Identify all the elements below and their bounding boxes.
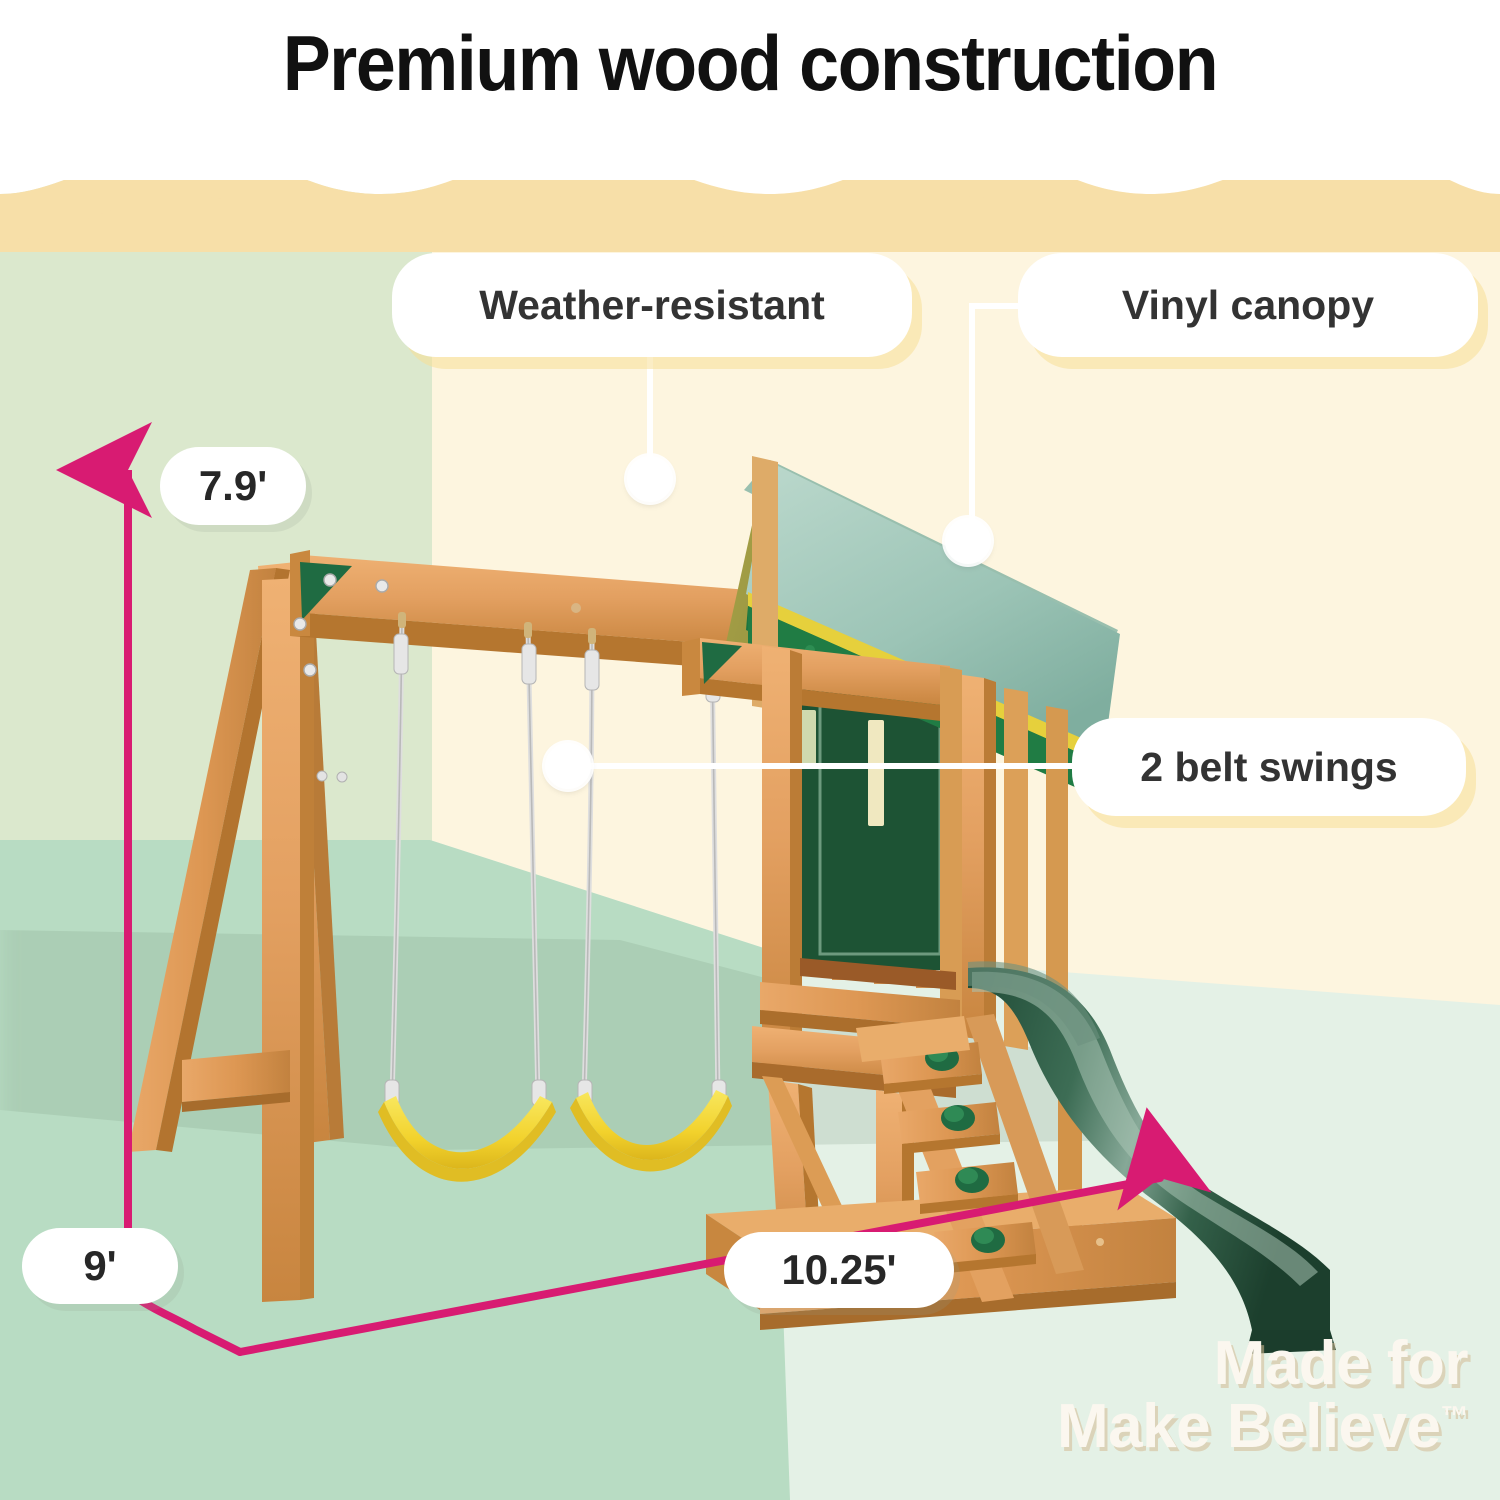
- dimension-label-height: 7.9': [160, 447, 306, 525]
- callout-label-vinyl[interactable]: Vinyl canopy: [1018, 253, 1478, 357]
- dimension-label-depth: 9': [22, 1228, 178, 1304]
- brand-lockup: Made for Make Believe™: [1057, 1332, 1468, 1458]
- callout-marker-swings[interactable]: [545, 743, 591, 789]
- marker-ring-icon: [556, 754, 580, 778]
- infographic-canvas: Premium wood construction Weather-resist…: [0, 0, 1500, 1500]
- page-title: Premium wood construction: [60, 18, 1440, 109]
- marker-ring-icon: [638, 467, 662, 491]
- marker-ring-icon: [956, 529, 980, 553]
- callout-label-weather[interactable]: Weather-resistant: [392, 253, 912, 357]
- dimension-label-width: 10.25': [724, 1232, 954, 1308]
- callout-marker-vinyl[interactable]: [945, 518, 991, 564]
- brand-line-2: Make Believe: [1057, 1392, 1440, 1461]
- callout-label-swings[interactable]: 2 belt swings: [1072, 718, 1466, 816]
- callout-marker-weather[interactable]: [627, 456, 673, 502]
- brand-line-1: Made for: [1057, 1332, 1468, 1395]
- header-band: Premium wood construction: [0, 0, 1500, 180]
- trademark-symbol: ™: [1441, 1400, 1469, 1431]
- brand-line-2-wrap: Make Believe™: [1057, 1395, 1468, 1458]
